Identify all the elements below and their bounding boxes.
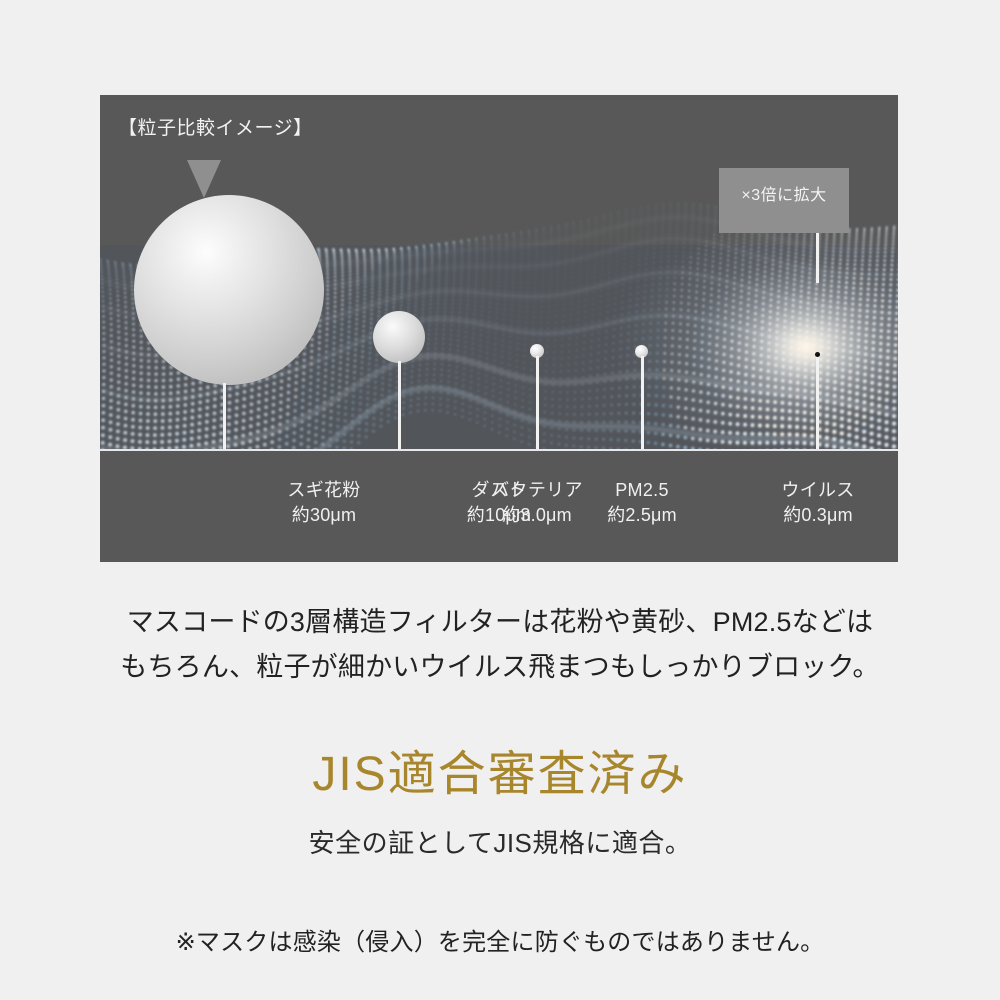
leader-line-virus [816,354,819,451]
particle-label-pm25: PM2.5 約2.5μm [607,478,677,528]
panel-title: 【粒子比較イメージ】 [118,113,313,140]
particle-sphere-pollen [134,195,324,385]
body-copy-line-1: マスコードの3層構造フィルターは花粉や黄砂、PM2.5などは [0,600,1000,645]
body-copy: マスコードの3層構造フィルターは花粉や黄砂、PM2.5などは もちろん、粒子が細… [0,600,1000,690]
particle-comparison-panel: ×3倍に拡大 【粒子比較イメージ】 スギ花粉 約30μm ダスト 約10μm バ… [100,95,898,562]
magnify-callout-label: ×3倍に拡大 [719,181,849,205]
leader-line-pollen [223,383,226,451]
leader-line-bacteria [536,356,539,451]
particle-label-virus-size: 約0.3μm [781,503,854,528]
body-copy-line-2: もちろん、粒子が細かいウイルス飛まつもしっかりブロック。 [0,645,1000,690]
panel-divider [100,449,898,451]
particle-sphere-dust [373,311,425,363]
particle-label-bacteria-name: バクテリア [491,478,583,503]
particle-label-pollen: スギ花粉 約30μm [287,478,360,528]
leader-line-pm25 [641,356,644,451]
particle-label-bacteria-size: 約3.0μm [491,503,583,528]
particle-label-bacteria: バクテリア 約3.0μm [491,478,583,528]
footnote-text: ※マスクは感染（侵入）を完全に防ぐものではありません。 [0,925,1000,961]
particle-label-virus-name: ウイルス [781,478,854,503]
jis-subtitle: 安全の証としてJIS規格に適合。 [0,824,1000,862]
leader-line-callout [816,233,819,283]
particle-label-pm25-name: PM2.5 [607,478,677,503]
particle-dot-virus [815,352,820,357]
particle-label-pm25-size: 約2.5μm [607,503,677,528]
leader-line-dust [398,361,401,451]
jis-heading: JIS適合審査済み [0,746,1000,804]
particle-label-pollen-name: スギ花粉 [287,478,360,503]
magnify-callout-tail [187,160,221,198]
particle-label-virus: ウイルス 約0.3μm [781,478,854,528]
particle-label-pollen-size: 約30μm [287,503,360,528]
magnify-callout-bubble: ×3倍に拡大 [719,168,849,233]
